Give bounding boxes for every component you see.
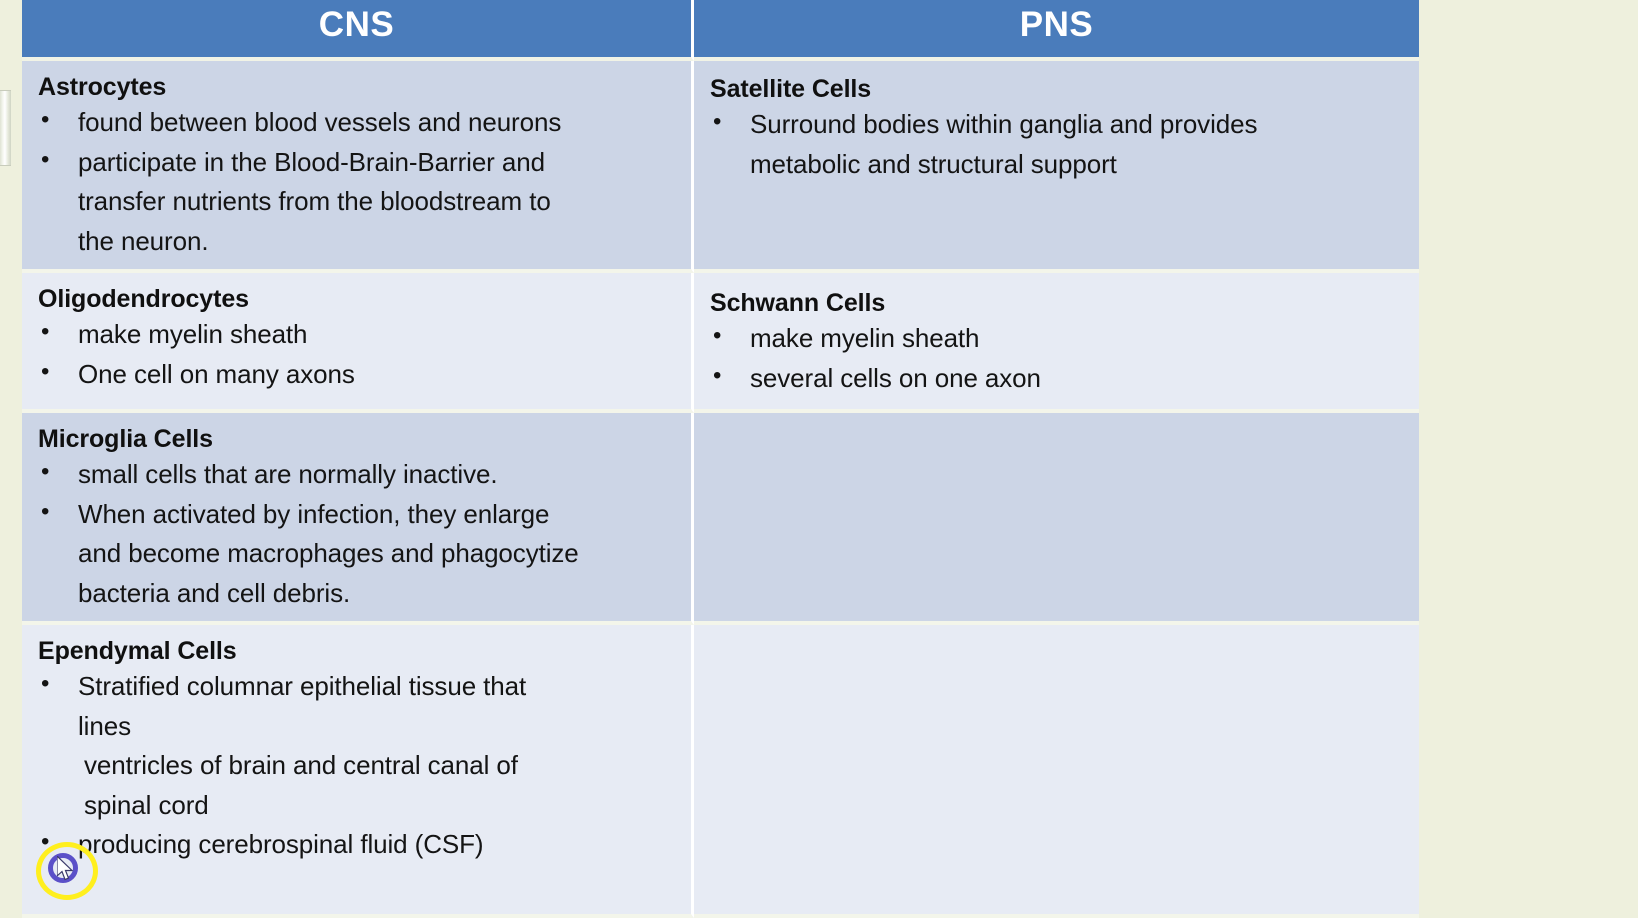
bullet-line: make myelin sheath [78, 315, 681, 355]
bullet-list: small cells that are normally inactive. … [38, 455, 681, 613]
bullet-list: Surround bodies within ganglia and provi… [710, 105, 1409, 184]
list-item: When activated by infection, they enlarg… [38, 495, 681, 614]
list-item: participate in the Blood-Brain-Barrier a… [38, 143, 681, 262]
bullet-list: make myelin sheath One cell on many axon… [38, 315, 681, 394]
bullet-line: One cell on many axons [78, 355, 681, 395]
bullet-line: lines [78, 707, 681, 747]
bullet-line: found between blood vessels and neurons [78, 103, 681, 143]
bullet-line: Stratified columnar epithelial tissue th… [78, 667, 681, 707]
bullet-line: the neuron. [78, 222, 681, 262]
table-header-row: CNS PNS [22, 0, 1419, 61]
list-item: producing cerebrospinal fluid (CSF) [38, 825, 681, 865]
cell-title: Schwann Cells [710, 289, 1409, 317]
column-header-cns-label: CNS [22, 7, 691, 42]
list-item: ventricles of brain and central canal of… [38, 746, 681, 825]
vertical-scrollbar[interactable] [0, 90, 11, 166]
bullet-line: and become macrophages and phagocytize [78, 534, 681, 574]
cns-pns-comparison-table: CNS PNS Astrocytes found between blood v… [22, 0, 1419, 918]
bullet-line: producing cerebrospinal fluid (CSF) [78, 825, 681, 865]
bullet-line: several cells on one axon [750, 359, 1409, 399]
list-item: found between blood vessels and neurons [38, 103, 681, 143]
bullet-line: ventricles of brain and central canal of [84, 746, 681, 786]
cell-pns-empty-row3 [694, 413, 1419, 625]
cell-cns-microglia-cells: Microglia Cells small cells that are nor… [22, 413, 694, 625]
bullet-list: found between blood vessels and neurons … [38, 103, 681, 261]
bullet-line: transfer nutrients from the bloodstream … [78, 182, 681, 222]
cell-pns-satellite-cells: Satellite Cells Surround bodies within g… [694, 61, 1419, 273]
list-item: Surround bodies within ganglia and provi… [710, 105, 1409, 184]
column-header-pns-label: PNS [694, 7, 1419, 42]
table-row: Astrocytes found between blood vessels a… [22, 61, 1419, 273]
cell-title: Satellite Cells [710, 75, 1409, 103]
bullet-line: When activated by infection, they enlarg… [78, 495, 681, 535]
column-header-cns: CNS [22, 0, 694, 61]
bullet-line: make myelin sheath [750, 319, 1409, 359]
column-header-pns: PNS [694, 0, 1419, 61]
bullet-line: participate in the Blood-Brain-Barrier a… [78, 143, 681, 183]
list-item: make myelin sheath [38, 315, 681, 355]
table-row: Ependymal Cells Stratified columnar epit… [22, 625, 1419, 918]
list-item: make myelin sheath [710, 319, 1409, 359]
list-item: several cells on one axon [710, 359, 1409, 399]
bullet-list: Stratified columnar epithelial tissue th… [38, 667, 681, 865]
bullet-line: small cells that are normally inactive. [78, 455, 681, 495]
list-item: Stratified columnar epithelial tissue th… [38, 667, 681, 746]
cell-cns-oligodendrocytes: Oligodendrocytes make myelin sheath One … [22, 273, 694, 413]
bullet-line: Surround bodies within ganglia and provi… [750, 105, 1409, 145]
cell-cns-astrocytes: Astrocytes found between blood vessels a… [22, 61, 694, 273]
table-row: Oligodendrocytes make myelin sheath One … [22, 273, 1419, 413]
bullet-list: make myelin sheath several cells on one … [710, 319, 1409, 398]
list-item: One cell on many axons [38, 355, 681, 395]
cell-title: Oligodendrocytes [38, 285, 681, 313]
cell-title: Astrocytes [38, 73, 681, 101]
cell-pns-schwann-cells: Schwann Cells make myelin sheath several… [694, 273, 1419, 413]
bullet-line: metabolic and structural support [750, 145, 1409, 185]
cell-title: Microglia Cells [38, 425, 681, 453]
table-row: Microglia Cells small cells that are nor… [22, 413, 1419, 625]
cell-cns-ependymal-cells: Ependymal Cells Stratified columnar epit… [22, 625, 694, 918]
table-body: Astrocytes found between blood vessels a… [22, 61, 1419, 918]
cell-title: Ependymal Cells [38, 637, 681, 665]
bullet-line: bacteria and cell debris. [78, 574, 681, 614]
list-item: small cells that are normally inactive. [38, 455, 681, 495]
cell-pns-empty-row4 [694, 625, 1419, 918]
bullet-line: spinal cord [84, 786, 681, 826]
